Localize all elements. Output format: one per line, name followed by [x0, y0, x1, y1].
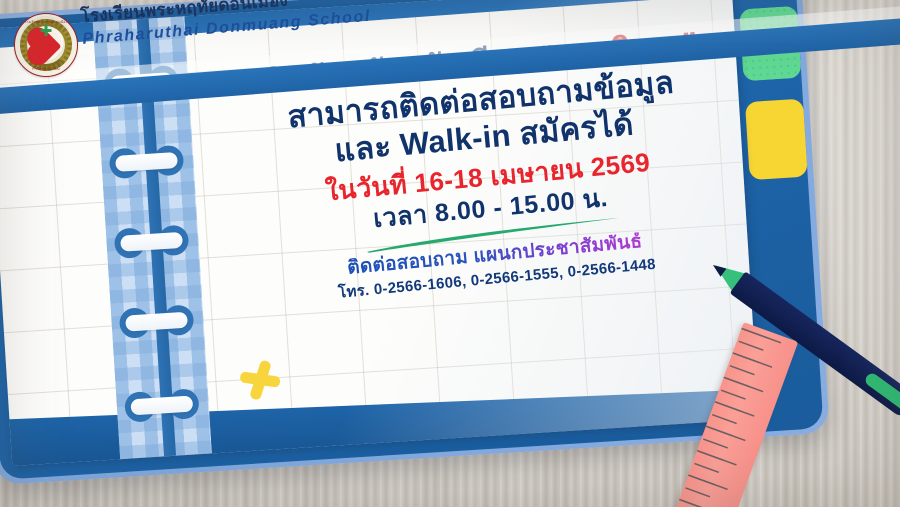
- yellow-plus-doodle: [234, 354, 286, 406]
- school-crest-logo: โรงเรียนพระหฤทัยดอนเมือง PHRAHARUTHAI: [14, 13, 78, 77]
- school-name-block: โรงเรียนพระหฤทัยดอนเมือง Phraharuthai Do…: [80, 0, 372, 48]
- poster-canvas: เปิดรับสมัครนักเรียน “รอบพิเศษ” สามารถติ…: [0, 0, 900, 507]
- crest-bottom-microtext: PHRAHARUTHAI: [15, 67, 77, 71]
- header: โรงเรียนพระหฤทัยดอนเมือง PHRAHARUTHAI โร…: [0, 0, 900, 95]
- spiral-ring: [109, 145, 185, 180]
- spiral-ring: [119, 304, 195, 339]
- crest-cross-icon: [45, 25, 48, 36]
- spiral-ring: [124, 388, 200, 423]
- spiral-ring: [114, 225, 190, 260]
